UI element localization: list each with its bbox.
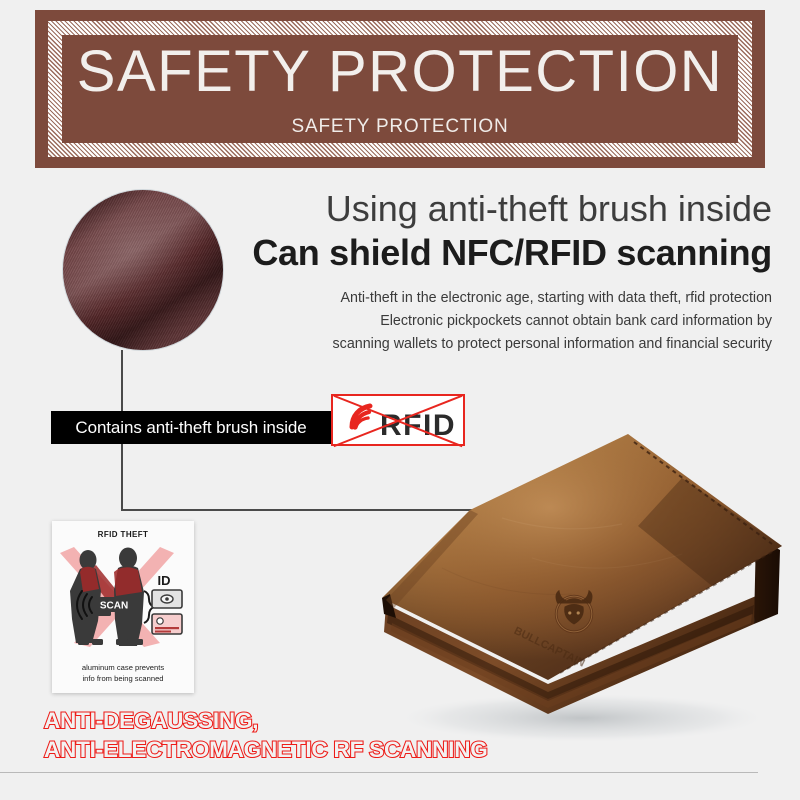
scan-label: SCAN [100, 601, 128, 612]
headline-line-bold: Can shield NFC/RFID scanning [252, 232, 772, 274]
bottom-claims: ANTI-DEGAUSSING, ANTI-ELECTROMAGNETIC RF… [44, 706, 488, 765]
product-detail-page: SAFETY PROTECTION SAFETY PROTECTION Usin… [0, 0, 800, 800]
theft-card-footer-line-2: info from being scanned [52, 673, 194, 684]
fabric-vignette [63, 190, 223, 350]
headline-body-line-3: scanning wallets to protect personal inf… [252, 333, 772, 356]
header-banner: SAFETY PROTECTION SAFETY PROTECTION [35, 10, 765, 168]
theft-card-illustration: SCAN ID [52, 535, 194, 653]
claim-line-2: ANTI-ELECTROMAGNETIC RF SCANNING [44, 735, 488, 764]
banner-subtitle: SAFETY PROTECTION [292, 117, 509, 136]
silhouette-right [114, 548, 144, 647]
theft-card-footer-line-1: aluminum case prevents [52, 662, 194, 673]
theft-card-footer: aluminum case prevents info from being s… [52, 662, 194, 684]
callout-label: Contains anti-theft brush inside [51, 411, 331, 444]
headline-body: Anti-theft in the electronic age, starti… [252, 287, 772, 356]
headline-line-light: Using anti-theft brush inside [252, 188, 772, 230]
rfid-theft-infographic-card: RFID THEFT [52, 521, 194, 693]
headline-body-line-1: Anti-theft in the electronic age, starti… [252, 287, 772, 310]
headline-block: Using anti-theft brush inside Can shield… [252, 188, 772, 356]
id-card-icons [152, 590, 182, 634]
headline-body-line-2: Electronic pickpockets cannot obtain ban… [252, 310, 772, 333]
banner-title: SAFETY PROTECTION [77, 43, 723, 101]
claim-line-1: ANTI-DEGAUSSING, [44, 706, 488, 735]
fabric-swatch-closeup [63, 190, 223, 350]
bottom-divider [0, 772, 758, 773]
callout-label-text: Contains anti-theft brush inside [75, 418, 306, 438]
id-label: ID [158, 573, 171, 588]
wallet-product-photo: BULLCAPTAIN [352, 418, 800, 748]
